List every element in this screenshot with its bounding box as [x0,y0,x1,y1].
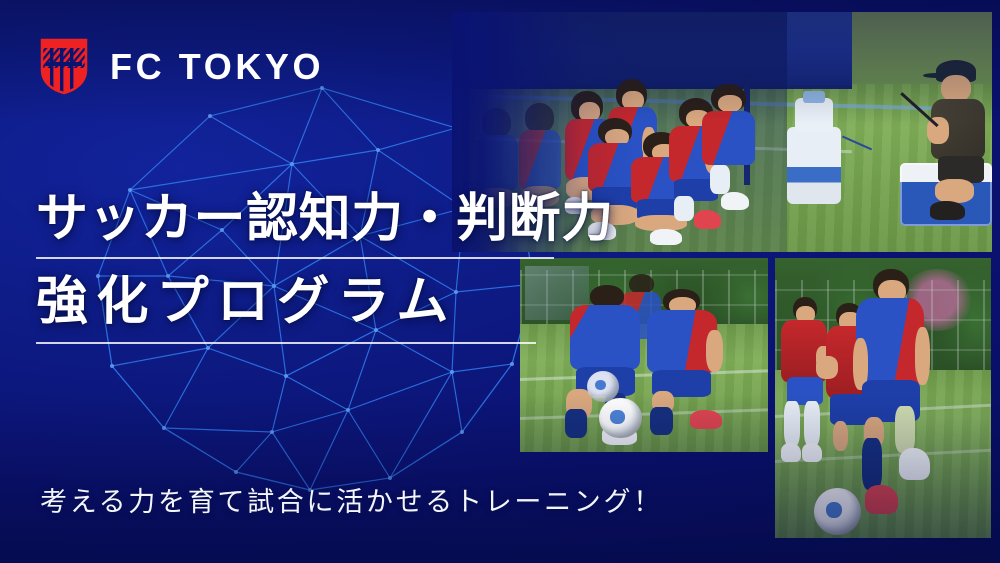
tagline: 考える力を育て試合に活かせるトレーニング！ [40,480,663,519]
fc-tokyo-program-banner: FC TOKYO サッカー認知力・判断力 強化プログラム 考える力を育て試合に活… [0,0,1000,563]
headline-rule-2 [36,342,536,344]
headline-line-2: 強化プログラム [36,275,596,330]
headline-rule-1 [36,257,554,259]
fc-tokyo-wordmark: FC TOKYO [110,49,324,85]
headline-line-1: サッカー認知力・判断力 [36,192,596,247]
fc-tokyo-crest-icon [40,38,88,95]
headline-block: サッカー認知力・判断力 強化プログラム [36,192,596,344]
fc-tokyo-logo[interactable]: FC TOKYO [40,38,324,95]
